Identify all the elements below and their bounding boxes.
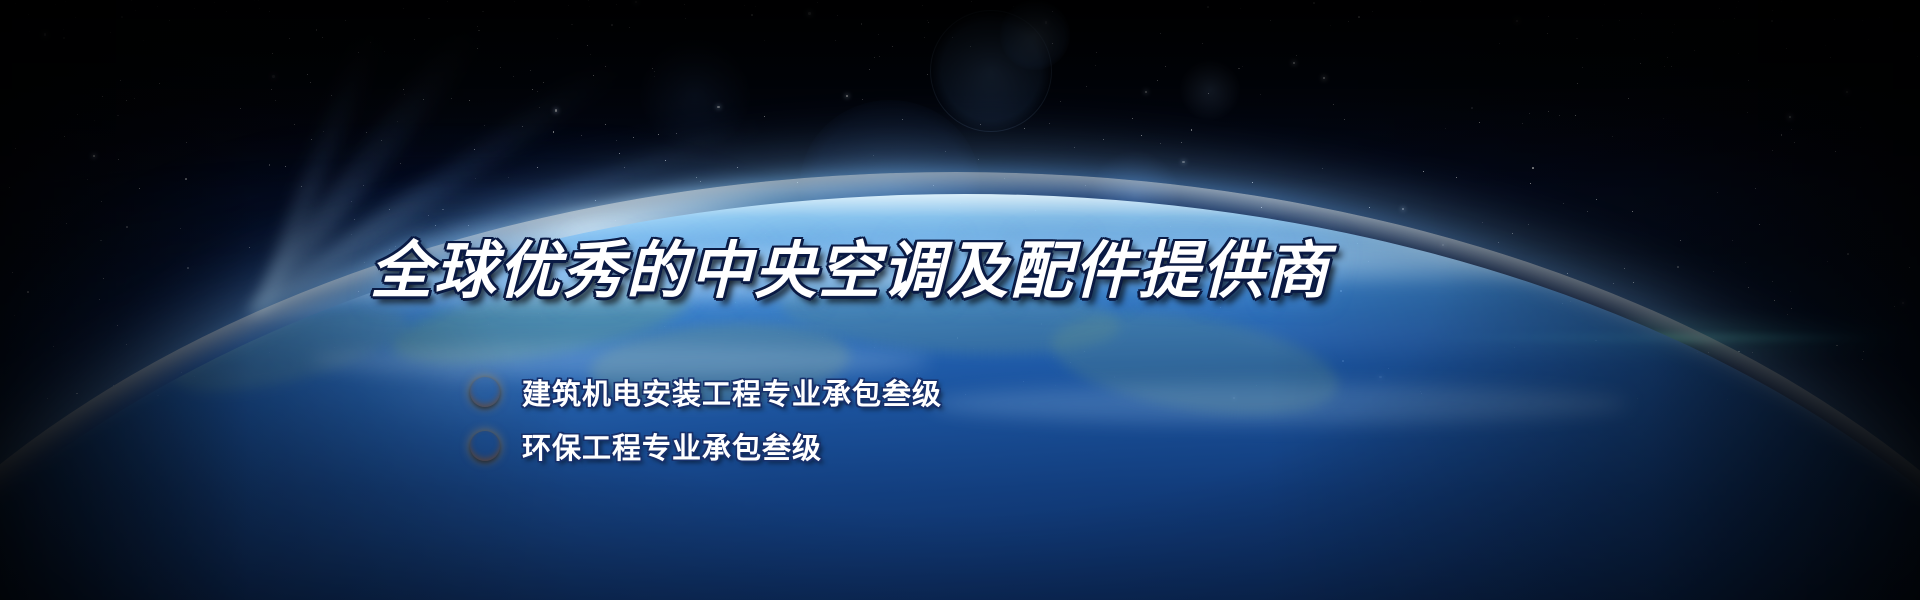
bullet-label: 环保工程专业承包叁级 (522, 425, 822, 467)
orange-dot-icon (470, 431, 500, 461)
banner-bullet-list: 建筑机电安装工程专业承包叁级 环保工程专业承包叁级 (0, 372, 1700, 480)
hero-banner: 全球优秀的中央空调及配件提供商 建筑机电安装工程专业承包叁级 环保工程专业承包叁… (0, 0, 1920, 600)
list-item: 建筑机电安装工程专业承包叁级 (0, 372, 1700, 412)
banner-headline: 全球优秀的中央空调及配件提供商 (0, 240, 1700, 302)
orange-dot-icon (470, 377, 500, 407)
list-item: 环保工程专业承包叁级 (0, 426, 1700, 466)
banner-content: 全球优秀的中央空调及配件提供商 建筑机电安装工程专业承包叁级 环保工程专业承包叁… (0, 0, 1920, 600)
bullet-label: 建筑机电安装工程专业承包叁级 (522, 371, 942, 413)
